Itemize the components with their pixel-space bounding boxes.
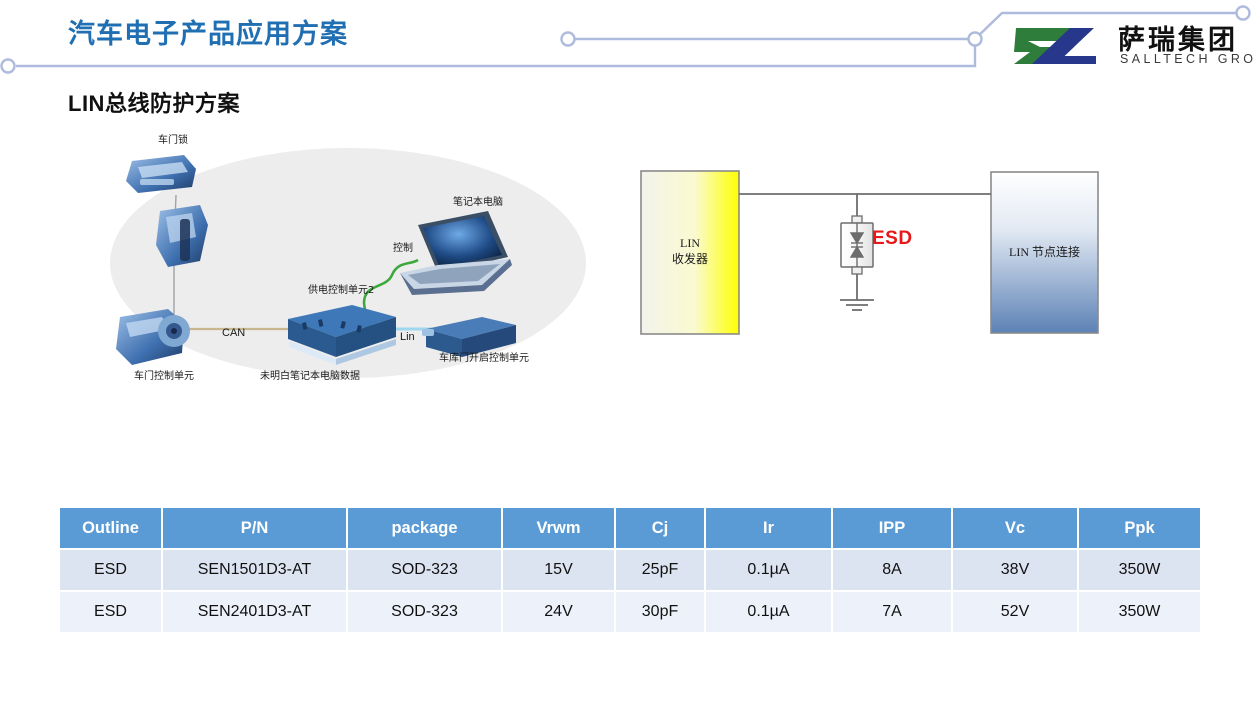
lin-node-label: LIN 节点连接 (991, 244, 1098, 260)
table-row: ESDSEN1501D3-ATSOD-32315V25pF0.1µA8A38V3… (60, 549, 1200, 591)
illustration-label-2: CAN (222, 327, 245, 339)
table-cell: 25pF (615, 549, 705, 591)
table-body: ESDSEN1501D3-ATSOD-32315V25pF0.1µA8A38V3… (60, 549, 1200, 632)
brand-logo: 萨瑞集团 SALLTECH GROUP (1010, 16, 1250, 76)
deco-node-junction (969, 33, 982, 46)
table-cell: 7A (832, 591, 952, 632)
illustration-label-0: 车门锁 (158, 133, 188, 146)
table-cell: 0.1µA (705, 591, 832, 632)
illustration-label-6: 笔记本电脑 (453, 195, 503, 208)
illustration-label-8: 车库门开启控制单元 (439, 351, 529, 364)
table-header-cell-p-n: P/N (162, 508, 347, 549)
tvs-bottom-terminal (852, 267, 862, 274)
table-header-cell-package: package (347, 508, 502, 549)
salltech-logo-icon (1010, 20, 1110, 72)
lin-transceiver-label: LIN 收发器 (641, 235, 739, 267)
esd-spec-table: OutlineP/NpackageVrwmCjIrIPPVcPpk ESDSEN… (60, 508, 1200, 632)
table-cell: 52V (952, 591, 1078, 632)
illustration-label-5: 控制 (393, 241, 413, 254)
illustration-label-7: Lin (400, 331, 415, 343)
table-cell: 15V (502, 549, 615, 591)
table-header-cell-ir: Ir (705, 508, 832, 549)
table-header-cell-outline: Outline (60, 508, 162, 549)
table-cell: 8A (832, 549, 952, 591)
table-header-row: OutlineP/NpackageVrwmCjIrIPPVcPpk (60, 508, 1200, 549)
table-cell: SOD-323 (347, 549, 502, 591)
table-cell: SEN1501D3-AT (162, 549, 347, 591)
illustration-label-4: 未明白笔记本电脑数据 (260, 369, 360, 382)
table-cell: 30pF (615, 591, 705, 632)
illustration-label-1: 车门控制单元 (134, 369, 194, 382)
illustration-label-3: 供电控制单元2 (308, 283, 374, 296)
table-cell: ESD (60, 591, 162, 632)
esd-callout-label: ESD (872, 228, 913, 250)
table-header-cell-vc: Vc (952, 508, 1078, 549)
table-cell: 38V (952, 549, 1078, 591)
table-header-cell-cj: Cj (615, 508, 705, 549)
table-cell: 24V (502, 591, 615, 632)
deco-node-left (2, 60, 15, 73)
table-header-cell-ipp: IPP (832, 508, 952, 549)
table-cell: SEN2401D3-AT (162, 591, 347, 632)
table-row: ESDSEN2401D3-ATSOD-32324V30pF0.1µA7A52V3… (60, 591, 1200, 632)
slide-root: 汽车电子产品应用方案 LIN总线防护方案 萨瑞集团 SALLTECH GROUP (0, 0, 1255, 705)
door-actuator-device (156, 205, 208, 267)
section-title: LIN总线防护方案 (68, 86, 240, 118)
page-title: 汽车电子产品应用方案 (68, 12, 348, 51)
door-lock-device (126, 155, 196, 193)
table-cell: 350W (1078, 591, 1200, 632)
ground-icon (840, 300, 874, 310)
table-cell: 350W (1078, 549, 1200, 591)
tvs-top-terminal (852, 216, 862, 223)
lin-network-illustration: 车门锁车门控制单元CAN供电控制单元2未明白笔记本电脑数据控制笔记本电脑Lin车… (96, 133, 596, 408)
deco-node-middle (562, 33, 575, 46)
door-control-unit-device (116, 309, 190, 365)
table-header-cell-vrwm: Vrwm (502, 508, 615, 549)
logo-english-name: SALLTECH GROUP (1120, 52, 1255, 66)
table-cell: SOD-323 (347, 591, 502, 632)
table-cell: 0.1µA (705, 549, 832, 591)
table-cell: ESD (60, 549, 162, 591)
table-header-cell-ppk: Ppk (1078, 508, 1200, 549)
